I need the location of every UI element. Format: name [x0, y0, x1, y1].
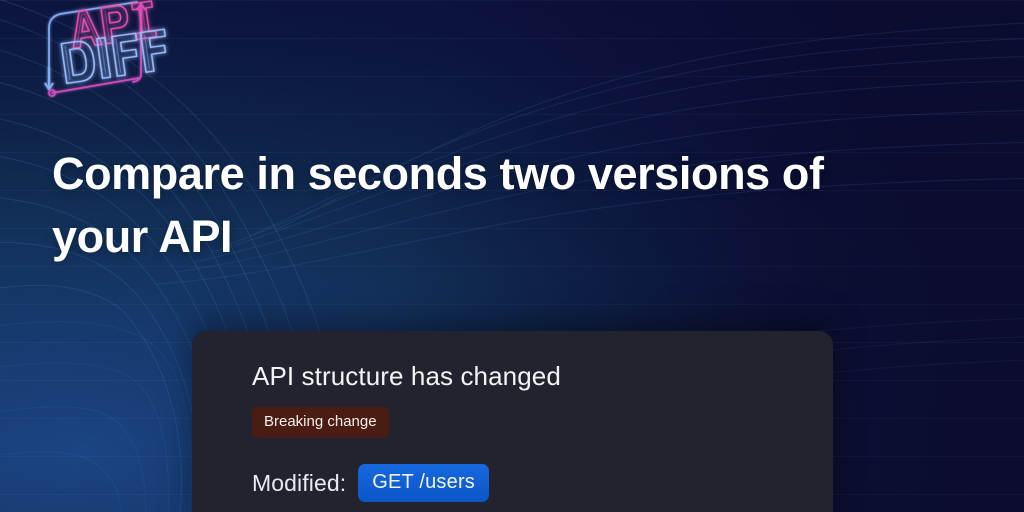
endpoint-chip-get-users[interactable]: GET /users	[358, 464, 489, 502]
modified-label: Modified:	[252, 470, 346, 497]
hero-canvas: Compare in seconds two versions of your …	[0, 0, 1024, 512]
status-badge-breaking-change: Breaking change	[252, 407, 389, 438]
api-change-card: API structure has changed Breaking chang…	[192, 331, 833, 512]
api-diff-logo[interactable]	[33, 0, 158, 108]
card-title: API structure has changed	[252, 359, 833, 393]
hero-headline: Compare in seconds two versions of your …	[52, 142, 892, 268]
modified-endpoint-row: Modified: GET /users	[252, 464, 833, 502]
